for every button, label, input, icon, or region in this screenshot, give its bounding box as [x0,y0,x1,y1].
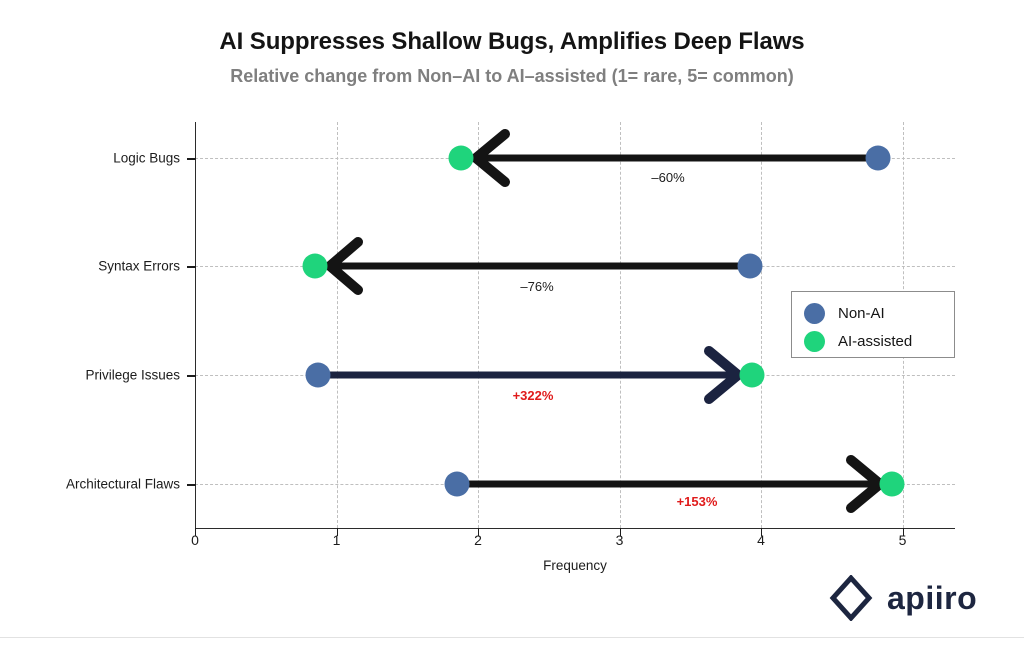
gridline-horizontal-architectural-flaws [195,484,955,485]
y-axis-spine [195,122,196,528]
y-axis-label-architectural-flaws: Architectural Flaws [0,477,180,492]
delta-label-architectural-flaws: +153% [677,494,718,509]
datapoint-ai-assisted-logic-bugs [449,146,474,171]
datapoint-non-ai-architectural-flaws [445,472,470,497]
y-tick-1 [187,266,196,268]
datapoint-ai-assisted-architectural-flaws [880,472,905,497]
gridline-vertical-1 [337,122,338,528]
y-axis-label-privilege-issues: Privilege Issues [0,368,180,383]
legend-swatch-non-ai-icon [804,303,825,324]
datapoint-non-ai-privilege-issues [306,363,331,388]
legend-label-non-ai: Non-AI [838,305,885,322]
y-tick-0 [187,158,196,160]
brand-name: apiiro [887,580,977,617]
y-axis-label-logic-bugs: Logic Bugs [0,151,180,166]
gridline-vertical-3 [620,122,621,528]
x-axis-title: Frequency [195,558,955,573]
footer-divider [0,637,1024,638]
diamond-logo-icon [828,575,874,621]
datapoint-ai-assisted-syntax-errors [303,254,328,279]
datapoint-non-ai-syntax-errors [738,254,763,279]
chart-figure: AI Suppresses Shallow Bugs, Amplifies De… [0,0,1024,650]
chart-subtitle: Relative change from Non–AI to AI–assist… [0,66,1024,87]
gridline-vertical-2 [478,122,479,528]
y-axis-label-syntax-errors: Syntax Errors [0,259,180,274]
chart-legend: Non-AI AI-assisted [791,291,955,358]
legend-item-non-ai[interactable]: Non-AI [804,300,885,326]
x-tick-label-0: 0 [191,532,199,548]
x-tick-label-1: 1 [333,532,341,548]
legend-item-ai-assisted[interactable]: AI-assisted [804,328,912,354]
delta-label-logic-bugs: –60% [651,170,684,185]
x-axis-spine [195,528,955,529]
x-tick-label-4: 4 [757,532,765,548]
y-tick-2 [187,375,196,377]
gridline-vertical-4 [761,122,762,528]
x-tick-label-5: 5 [899,532,907,548]
legend-label-ai-assisted: AI-assisted [838,333,912,350]
datapoint-ai-assisted-privilege-issues [740,363,765,388]
x-tick-label-3: 3 [616,532,624,548]
gridline-horizontal-logic-bugs [195,158,955,159]
chart-title: AI Suppresses Shallow Bugs, Amplifies De… [0,28,1024,56]
delta-label-syntax-errors: –76% [520,279,553,294]
legend-swatch-ai-assisted-icon [804,331,825,352]
brand-logo: apiiro [828,575,977,621]
y-tick-3 [187,484,196,486]
x-tick-label-2: 2 [474,532,482,548]
datapoint-non-ai-logic-bugs [866,146,891,171]
delta-label-privilege-issues: +322% [513,388,554,403]
